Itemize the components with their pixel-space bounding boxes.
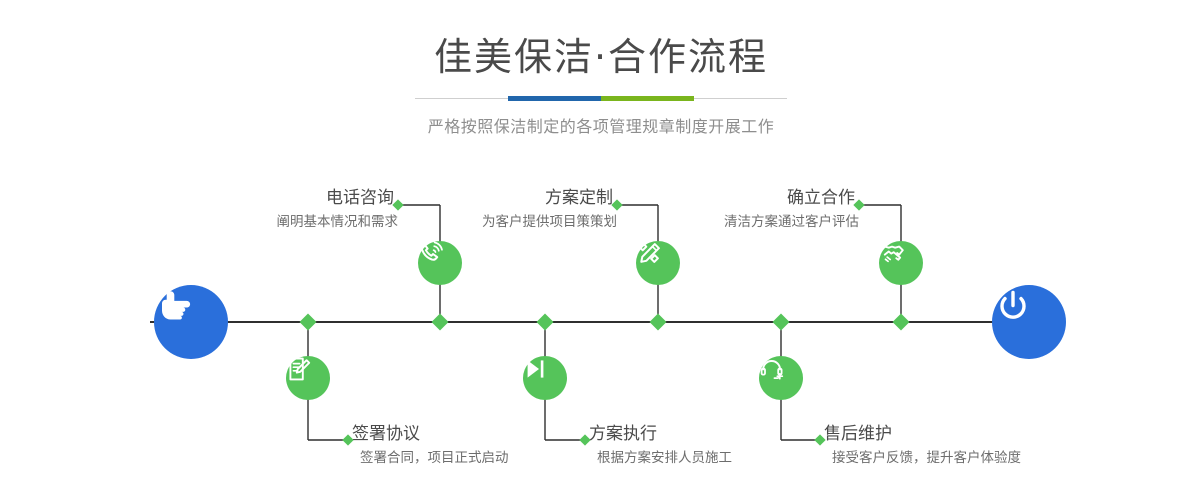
axis-diamond-4 <box>300 314 317 331</box>
step-node-1[interactable] <box>418 241 462 285</box>
step-desc-6: 接受客户反馈，提升客户体验度 <box>820 449 1120 467</box>
flow-start-endpoint[interactable] <box>154 285 228 359</box>
step-title-5: 确立合作 <box>610 188 859 209</box>
axis-diamond-5 <box>537 314 554 331</box>
step-label-4: 方案执行 根据方案安排人员施工 <box>585 424 845 467</box>
process-flow-infographic: 佳美保洁·合作流程 严格按照保洁制定的各项管理规章制度开展工作 <box>0 0 1202 502</box>
step-title-2: 签署协议 <box>348 424 608 445</box>
step-node-2[interactable] <box>286 356 330 400</box>
step-title-6: 售后维护 <box>820 424 1120 445</box>
step-node-3[interactable] <box>636 241 680 285</box>
step-title-3: 方案定制 <box>370 188 617 209</box>
step-label-1: 电话咨询 阐明基本情况和需求 <box>150 188 398 231</box>
step-desc-2: 签署合同，项目正式启动 <box>348 449 608 467</box>
step-label-2: 签署协议 签署合同，项目正式启动 <box>348 424 608 467</box>
flow-end-endpoint[interactable] <box>992 285 1066 359</box>
step-label-3: 方案定制 为客户提供项目策策划 <box>370 188 617 231</box>
step-node-5[interactable] <box>879 241 923 285</box>
step-label-6: 售后维护 接受客户反馈，提升客户体验度 <box>820 424 1120 467</box>
axis-diamond-6 <box>773 314 790 331</box>
flow-diagram: 电话咨询 阐明基本情况和需求 方案定制 为客户提供项目策策划 <box>0 0 1202 502</box>
step-desc-3: 为客户提供项目策策划 <box>370 213 617 231</box>
step-title-1: 电话咨询 <box>150 188 398 209</box>
step-title-4: 方案执行 <box>585 424 845 445</box>
step-node-4[interactable] <box>523 356 567 400</box>
step-desc-1: 阐明基本情况和需求 <box>150 213 398 231</box>
axis-diamond-2 <box>650 314 667 331</box>
step-desc-4: 根据方案安排人员施工 <box>585 449 845 467</box>
step-node-6[interactable] <box>759 356 803 400</box>
axis-diamond-3 <box>893 314 910 331</box>
step-desc-5: 清洁方案通过客户评估 <box>610 213 859 231</box>
axis-diamond-1 <box>432 314 449 331</box>
step-label-5: 确立合作 清洁方案通过客户评估 <box>610 188 859 231</box>
